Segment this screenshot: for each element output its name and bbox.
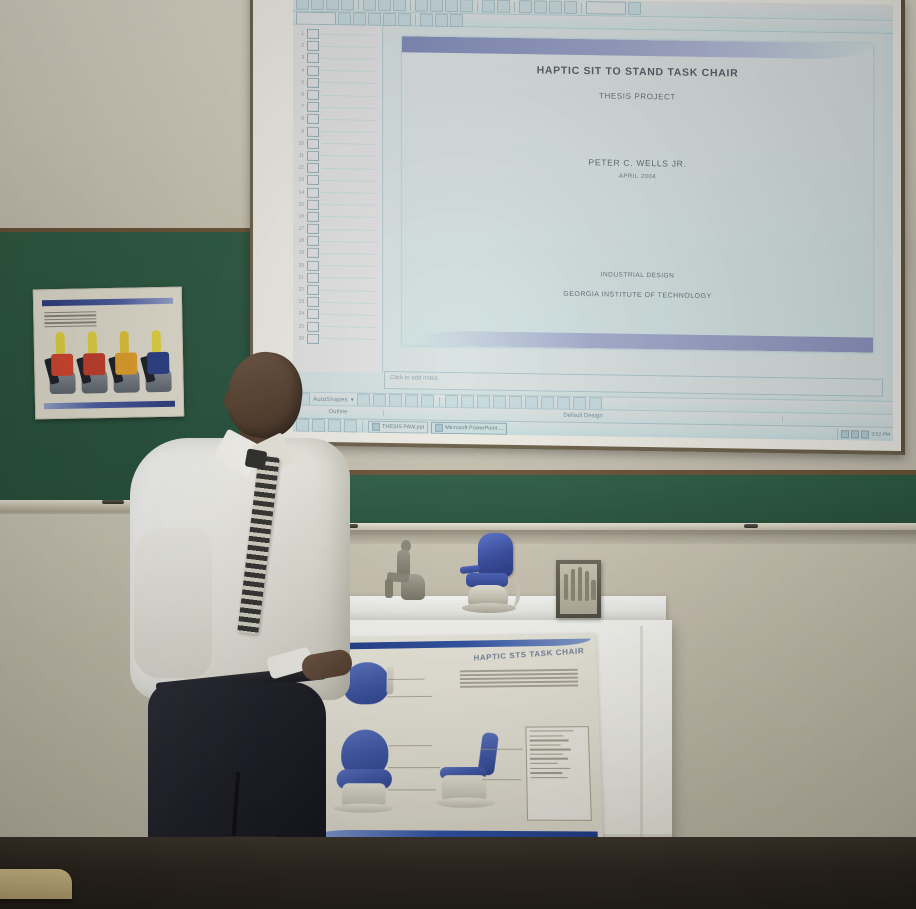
font-name-combo[interactable] <box>296 11 336 25</box>
figure-torso <box>397 550 410 575</box>
current-slide[interactable]: HAPTIC SIT TO STAND TASK CHAIR THESIS PR… <box>402 36 873 352</box>
email-icon[interactable] <box>341 0 354 10</box>
outline-slide-titleline <box>322 119 377 121</box>
outline-slide-titleline <box>322 46 377 48</box>
outline-slide-titleline <box>322 107 377 109</box>
callout-line <box>480 749 523 750</box>
spelling-icon[interactable] <box>393 0 406 11</box>
open-file-icon[interactable] <box>311 0 324 10</box>
toolbar-separator <box>410 0 411 10</box>
font-size-combo[interactable] <box>338 12 351 25</box>
outline-slide-thumbnail[interactable] <box>307 285 319 295</box>
poster-person-body <box>83 353 105 375</box>
toolbar-separator <box>514 2 515 12</box>
outline-slide-thumbnail[interactable] <box>307 321 319 331</box>
poster-figure <box>81 331 110 394</box>
insert-chart-icon[interactable] <box>549 1 562 14</box>
plaque-panel <box>560 564 597 614</box>
outline-slide-thumbnail[interactable] <box>307 163 319 173</box>
redo-icon[interactable] <box>497 0 510 13</box>
zoom-combo[interactable] <box>586 1 626 15</box>
outline-slide-thumbnail[interactable] <box>307 297 319 307</box>
outline-slide-thumbnail[interactable] <box>307 273 319 283</box>
outline-slide-thumbnail[interactable] <box>307 248 319 258</box>
slide-school: GEORGIA INSTITUTE OF TECHNOLOGY <box>402 288 873 302</box>
slide-footer-band <box>402 330 873 352</box>
outline-slide-thumbnail[interactable] <box>307 114 319 124</box>
hand-relief-plaque <box>556 560 601 618</box>
outline-slide-number: 23 <box>297 299 304 305</box>
poster-header-band <box>42 298 173 307</box>
outline-slide-thumbnail[interactable] <box>307 175 319 185</box>
plaque-finger <box>578 567 582 601</box>
outline-slide-number: 22 <box>297 287 304 293</box>
slide-department: INDUSTRIAL DESIGN <box>402 268 873 282</box>
seated-figure-model <box>385 540 427 602</box>
copy-icon[interactable] <box>430 0 443 12</box>
bold-icon[interactable] <box>353 12 366 25</box>
outline-slide-number: 25 <box>297 323 304 329</box>
outline-slide-thumbnail[interactable] <box>307 151 319 161</box>
table-poster-spec-list <box>525 726 592 821</box>
undo-icon[interactable] <box>482 0 495 13</box>
outline-slide-titleline <box>322 241 377 243</box>
outline-slide-number: 10 <box>297 140 304 146</box>
outline-slide-titleline <box>322 216 377 218</box>
outline-slide-thumbnail[interactable] <box>307 199 319 209</box>
system-tray[interactable]: 3:52 PM <box>837 428 890 440</box>
outline-slide-titleline <box>322 168 377 170</box>
status-right <box>783 419 893 421</box>
outline-slide-titleline <box>322 314 377 316</box>
outline-slide-titleline <box>322 155 377 157</box>
taskbar-clock[interactable]: 3:52 PM <box>871 431 890 437</box>
outline-slide-titleline <box>322 326 377 328</box>
outline-slide-titleline <box>322 143 377 145</box>
callout-line <box>482 779 521 780</box>
outline-slide-thumbnail[interactable] <box>307 260 319 270</box>
cut-icon[interactable] <box>415 0 428 12</box>
shirt-sleeve <box>134 528 212 678</box>
student-desk-corner <box>0 869 72 899</box>
toolbar-separator <box>439 396 440 406</box>
table-poster-title: HAPTIC STS TASK CHAIR <box>473 646 584 662</box>
ear <box>224 392 235 409</box>
outline-slide-thumbnail[interactable] <box>307 78 319 88</box>
outline-slide-titleline <box>322 131 377 133</box>
toolbar-separator <box>581 3 582 13</box>
taskbar-button-label: Microsoft PowerPoint ... <box>445 424 503 431</box>
outline-slide-thumbnail[interactable] <box>307 334 319 344</box>
poster-person-head <box>88 331 97 355</box>
outline-slide-thumbnail[interactable] <box>307 90 319 100</box>
callout-line <box>388 745 432 746</box>
language-icon[interactable] <box>861 430 869 438</box>
outline-slide-number: 16 <box>297 213 304 219</box>
callout-line <box>387 696 432 697</box>
outline-slide-number: 9 <box>297 128 304 134</box>
outline-slide-number: 17 <box>297 226 304 232</box>
outline-slide-number: 6 <box>297 92 304 98</box>
slide-subtitle: THESIS PROJECT <box>402 88 873 104</box>
outline-slide-number: 1 <box>297 31 304 37</box>
outline-slide-thumbnail[interactable] <box>307 53 319 63</box>
outline-slide-thumbnail[interactable] <box>307 41 319 51</box>
outline-slide-number: 14 <box>297 189 304 195</box>
plaque-finger <box>571 569 575 601</box>
plaque-finger <box>585 571 589 601</box>
insert-hyperlink-icon[interactable] <box>519 0 532 13</box>
slide-author: PETER C. WELLS JR. <box>402 154 873 171</box>
insert-table-icon[interactable] <box>534 0 547 13</box>
chair-model-base <box>462 603 516 613</box>
presentation-photo: 1234567891011121314151617181920212223242… <box>0 0 916 909</box>
outline-slide-thumbnail[interactable] <box>307 102 319 112</box>
shadow-icon[interactable] <box>398 13 411 26</box>
plaque-finger <box>564 574 568 600</box>
outline-slide-titleline <box>322 204 377 206</box>
poster-person-head <box>56 332 65 356</box>
outline-slide-thumbnail[interactable] <box>307 139 319 149</box>
toolbar-separator <box>358 0 359 9</box>
outline-slide-number: 11 <box>297 153 304 159</box>
outline-slide-titleline <box>322 180 377 182</box>
outline-slide-thumbnail[interactable] <box>307 309 319 319</box>
underline-icon[interactable] <box>383 12 396 25</box>
new-file-icon[interactable] <box>296 0 309 10</box>
callout-line <box>388 789 436 790</box>
align-right-icon[interactable] <box>450 13 463 26</box>
outline-slide-titleline <box>322 34 377 36</box>
help-icon[interactable] <box>628 2 641 15</box>
callout-line <box>388 679 425 680</box>
outline-slide-titleline <box>322 192 377 194</box>
italic-icon[interactable] <box>368 12 381 25</box>
chair-model-backrest <box>478 533 513 577</box>
outline-slide-titleline <box>322 265 377 267</box>
outline-slide-number: 20 <box>297 262 304 268</box>
outline-slide-titleline <box>322 290 377 292</box>
outline-slide-number: 12 <box>297 165 304 171</box>
outline-slide-thumbnail[interactable] <box>307 236 319 246</box>
outline-slide-number: 2 <box>297 43 304 49</box>
taskbar-spacer <box>510 428 834 433</box>
outline-slide-number: 3 <box>297 55 304 61</box>
slide-title: HAPTIC SIT TO STAND TASK CHAIR <box>402 62 873 81</box>
presenter <box>120 352 390 900</box>
toolbar-separator <box>415 14 416 24</box>
outline-slide-titleline <box>322 58 377 60</box>
poster-chair-side-view <box>434 733 506 821</box>
outline-slide-titleline <box>322 229 377 231</box>
print-icon[interactable] <box>363 0 376 11</box>
outline-slide-thumbnail[interactable] <box>307 65 319 75</box>
chair-model-sweep <box>500 577 520 607</box>
outline-slide-titleline <box>322 82 377 84</box>
outline-slide-titleline <box>322 70 377 72</box>
poster-person-body <box>51 354 73 376</box>
chair-base <box>436 798 495 808</box>
blue-chair-model <box>460 533 522 615</box>
outline-slide-number: 15 <box>297 201 304 207</box>
outline-slide-thumbnail[interactable] <box>307 212 319 222</box>
outline-slide-titleline <box>322 253 377 255</box>
outline-slide-number: 4 <box>297 67 304 73</box>
save-icon[interactable] <box>326 0 339 10</box>
outline-slide-row[interactable]: 26 <box>293 332 382 346</box>
head <box>222 347 307 442</box>
floor <box>0 837 916 909</box>
outline-slide-thumbnail[interactable] <box>307 187 319 197</box>
outline-slide-number: 13 <box>297 177 304 183</box>
format-painter-icon[interactable] <box>460 0 473 12</box>
outline-slide-titleline <box>322 277 377 279</box>
poster-person-head <box>152 330 161 354</box>
outline-slide-number: 24 <box>297 311 304 317</box>
poster-figure <box>49 332 78 395</box>
new-slide-icon[interactable] <box>564 1 577 14</box>
align-center-icon[interactable] <box>435 13 448 26</box>
necktie-knot <box>245 448 268 469</box>
powerpoint-app-icon <box>435 423 443 431</box>
outline-slide-number: 18 <box>297 238 304 244</box>
outline-slide-number: 7 <box>297 104 304 110</box>
outline-slide-number: 5 <box>297 79 304 85</box>
outline-slide-number: 19 <box>297 250 304 256</box>
slide-header-band <box>402 36 873 59</box>
table-poster-body-text <box>460 669 578 690</box>
poster-text-block <box>44 311 96 329</box>
outline-slide-number: 26 <box>297 335 304 341</box>
slide-date: APRIL 2004 <box>402 170 873 183</box>
plaque-thumb <box>591 580 596 600</box>
outline-slide-number: 8 <box>297 116 304 122</box>
align-left-icon[interactable] <box>420 13 433 26</box>
print-preview-icon[interactable] <box>378 0 391 11</box>
outline-slide-thumbnail[interactable] <box>307 126 319 136</box>
outline-slide-titleline <box>322 302 377 304</box>
volume-icon[interactable] <box>841 430 849 438</box>
outline-slide-number: 21 <box>297 274 304 280</box>
chalk-piece <box>744 524 758 528</box>
taskbar-button-powerpoint[interactable]: Microsoft PowerPoint ... <box>431 421 507 434</box>
outline-slide-titleline <box>322 95 377 97</box>
network-icon[interactable] <box>851 430 859 438</box>
toolbar-separator <box>477 1 478 11</box>
outline-slide-thumbnail[interactable] <box>307 224 319 234</box>
paste-icon[interactable] <box>445 0 458 12</box>
slide-stage: HAPTIC SIT TO STAND TASK CHAIR THESIS PR… <box>384 26 883 381</box>
callout-line <box>388 767 440 768</box>
outline-pane[interactable]: 1234567891011121314151617181920212223242… <box>293 25 383 373</box>
outline-slide-titleline <box>322 338 377 340</box>
outline-slide-thumbnail[interactable] <box>307 29 319 39</box>
